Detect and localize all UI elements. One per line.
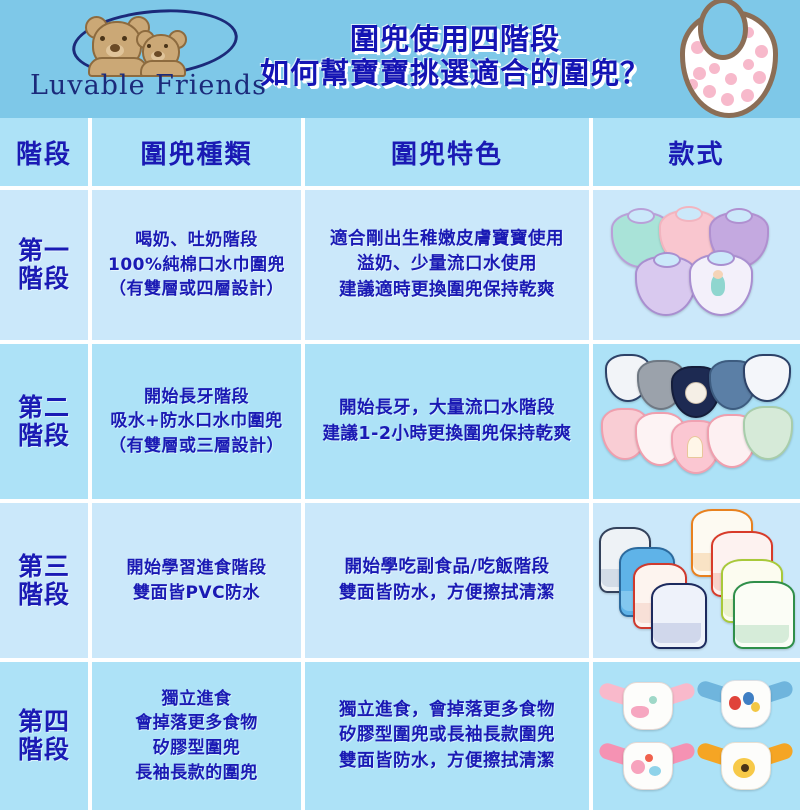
column-header-feature: 圍兜特色	[305, 118, 593, 186]
stage-label-cell: 第四 階段	[0, 662, 92, 810]
bib-type-line: 100%純棉口水巾圍兜	[108, 253, 285, 278]
product-photo-stage-4	[593, 662, 800, 810]
stage-label-line-1: 第二	[18, 394, 70, 422]
bib-feature-line: 溢奶、少量流口水使用	[330, 252, 564, 277]
teddy-bear-large-nose-icon	[110, 44, 120, 52]
product-photo-stage-1	[593, 190, 800, 340]
bib-type-line: 開始學習進食階段	[127, 556, 267, 581]
stage-label-line-2: 階段	[18, 736, 70, 764]
bib-type-line: 矽膠型圍兜	[135, 736, 258, 761]
stage-label-line-2: 階段	[18, 422, 70, 450]
teddy-bear-small-eye-right-icon	[164, 44, 168, 48]
table-row: 第二 階段 開始長牙階段 吸水+防水口水巾圍兜 （有雙層或三層設計） 開始長牙，…	[0, 344, 800, 503]
bib-type-cell: 開始長牙階段 吸水+防水口水巾圍兜 （有雙層或三層設計）	[92, 344, 305, 499]
page-header: Luvable Friends® 圍兜使用四階段 如何幫寶寶挑選適合的圍兜？	[0, 0, 800, 118]
bib-type-cell: 喝奶、吐奶階段 100%純棉口水巾圍兜 （有雙層或四層設計）	[92, 190, 305, 340]
bib-type-line: 獨立進食	[135, 687, 258, 712]
teddy-bear-large-eye-right-icon	[122, 36, 127, 41]
stage-label-cell: 第一 階段	[0, 190, 92, 340]
table-row: 第一 階段 喝奶、吐奶階段 100%純棉口水巾圍兜 （有雙層或四層設計） 適合剛…	[0, 190, 800, 344]
bib-feature-line: 開始學吃副食品/吃飯階段	[339, 555, 555, 580]
brand-name-text: Luvable Friends	[30, 70, 267, 101]
bib-type-cell: 開始學習進食階段 雙面皆PVC防水	[92, 503, 305, 658]
stage-label-cell: 第三 階段	[0, 503, 92, 658]
column-header-stage: 階段	[0, 118, 92, 186]
bib-style-photo-cell	[593, 344, 800, 499]
bib-feature-line: 雙面皆防水，方便擦拭清潔	[339, 749, 555, 774]
teddy-bear-small-eye-left-icon	[147, 44, 151, 48]
bib-type-line: 雙面皆PVC防水	[127, 581, 267, 606]
column-header-style: 款式	[593, 118, 800, 186]
stage-label-line-1: 第三	[18, 553, 70, 581]
bib-type-line: （有雙層或四層設計）	[108, 277, 285, 302]
infographic-page: Luvable Friends® 圍兜使用四階段 如何幫寶寶挑選適合的圍兜？	[0, 0, 800, 800]
page-title-line-1: 圍兜使用四階段	[250, 22, 660, 56]
bib-type-line: （有雙層或三層設計）	[109, 434, 284, 459]
pink-polka-dot-bib-icon	[672, 8, 778, 112]
product-photo-stage-3	[593, 503, 800, 658]
bib-type-cell: 獨立進食 會掉落更多食物 矽膠型圍兜 長袖長款的圍兜	[92, 662, 305, 810]
bib-style-photo-cell	[593, 662, 800, 810]
stage-comparison-table: 階段 圍兜種類 圍兜特色 款式 第一 階段 喝奶、吐奶階段 100%純棉口水巾圍…	[0, 118, 800, 800]
bib-feature-cell: 適合剛出生稚嫩皮膚寶寶使用 溢奶、少量流口水使用 建議適時更換圍兜保持乾爽	[305, 190, 593, 340]
bib-feature-cell: 開始學吃副食品/吃飯階段 雙面皆防水，方便擦拭清潔	[305, 503, 593, 658]
stage-label-line-2: 階段	[18, 581, 70, 609]
bib-icon-neck-hole	[698, 0, 748, 60]
column-header-type: 圍兜種類	[92, 118, 305, 186]
table-row: 第四 階段 獨立進食 會掉落更多食物 矽膠型圍兜 長袖長款的圍兜 獨立進食，會掉…	[0, 662, 800, 810]
bib-type-line: 吸水+防水口水巾圍兜	[109, 409, 284, 434]
page-title: 圍兜使用四階段 如何幫寶寶挑選適合的圍兜？	[250, 22, 660, 90]
bib-feature-line: 建議1-2小時更換圍兜保持乾爽	[322, 422, 571, 447]
stage-label-line-2: 階段	[18, 265, 70, 293]
bib-feature-line: 建議適時更換圍兜保持乾爽	[330, 278, 564, 303]
bib-feature-cell: 獨立進食，會掉落更多食物 矽膠型圍兜或長袖長款圍兜 雙面皆防水，方便擦拭清潔	[305, 662, 593, 810]
stage-label-cell: 第二 階段	[0, 344, 92, 499]
teddy-bear-small-nose-icon	[154, 51, 162, 57]
bib-style-photo-cell	[593, 503, 800, 658]
table-header-row: 階段 圍兜種類 圍兜特色 款式	[0, 118, 800, 190]
bib-feature-line: 矽膠型圍兜或長袖長款圍兜	[339, 723, 555, 748]
bib-feature-cell: 開始長牙，大量流口水階段 建議1-2小時更換圍兜保持乾爽	[305, 344, 593, 499]
brand-logo: Luvable Friends®	[30, 8, 265, 113]
teddy-bear-large-eye-left-icon	[100, 36, 105, 41]
bib-feature-line: 適合剛出生稚嫩皮膚寶寶使用	[330, 227, 564, 252]
brand-name: Luvable Friends®	[30, 70, 265, 101]
stage-label-line-1: 第一	[18, 237, 70, 265]
bib-type-line: 長袖長款的圍兜	[135, 761, 258, 786]
bib-feature-line: 雙面皆防水，方便擦拭清潔	[339, 581, 555, 606]
bib-type-line: 開始長牙階段	[109, 385, 284, 410]
product-photo-stage-2	[593, 344, 800, 499]
bib-feature-line: 開始長牙，大量流口水階段	[322, 396, 571, 421]
bib-feature-line: 獨立進食，會掉落更多食物	[339, 698, 555, 723]
bib-type-line: 會掉落更多食物	[135, 711, 258, 736]
bib-type-line: 喝奶、吐奶階段	[108, 228, 285, 253]
bib-style-photo-cell	[593, 190, 800, 340]
page-title-line-2: 如何幫寶寶挑選適合的圍兜？	[250, 56, 660, 90]
stage-label-line-1: 第四	[18, 708, 70, 736]
table-row: 第三 階段 開始學習進食階段 雙面皆PVC防水 開始學吃副食品/吃飯階段 雙面皆…	[0, 503, 800, 662]
